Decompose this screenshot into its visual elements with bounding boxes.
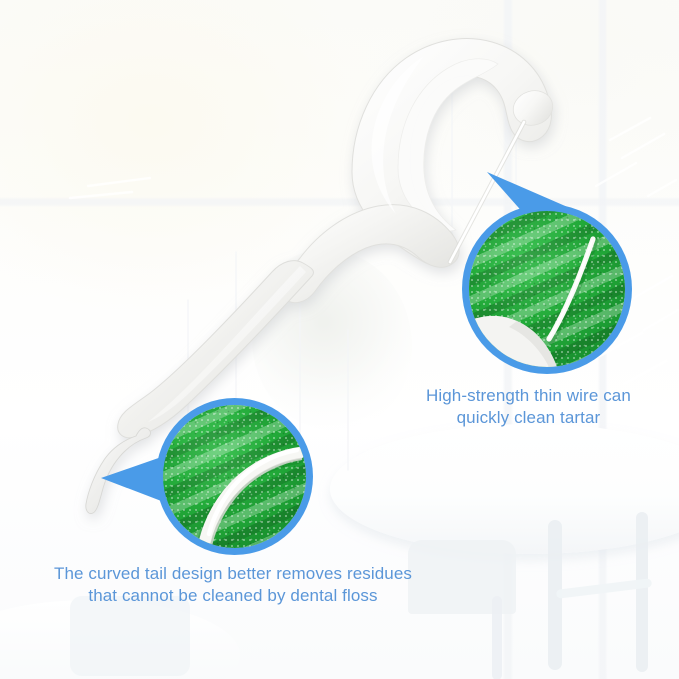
- zoom-pick-head-corner: [469, 316, 557, 367]
- product-feature-image: High-strength thin wire can quickly clea…: [0, 0, 679, 679]
- zoom-circle-thin-wire: [469, 211, 625, 367]
- caption-line: High-strength thin wire can: [426, 385, 631, 407]
- caption-line: The curved tail design better removes re…: [54, 563, 412, 585]
- caption-thin-wire: High-strength thin wire can quickly clea…: [426, 385, 631, 429]
- caption-curved-tail: The curved tail design better removes re…: [54, 563, 412, 607]
- zoom-wire-contents: [469, 211, 625, 367]
- pick-curved-tail: [86, 428, 151, 514]
- zoom-tail-contents: [163, 405, 306, 548]
- zoom-circle-curved-tail: [163, 405, 306, 548]
- pick-head-shoulder: [281, 205, 460, 303]
- caption-line: quickly clean tartar: [426, 407, 631, 429]
- caption-line: that cannot be cleaned by dental floss: [54, 585, 412, 607]
